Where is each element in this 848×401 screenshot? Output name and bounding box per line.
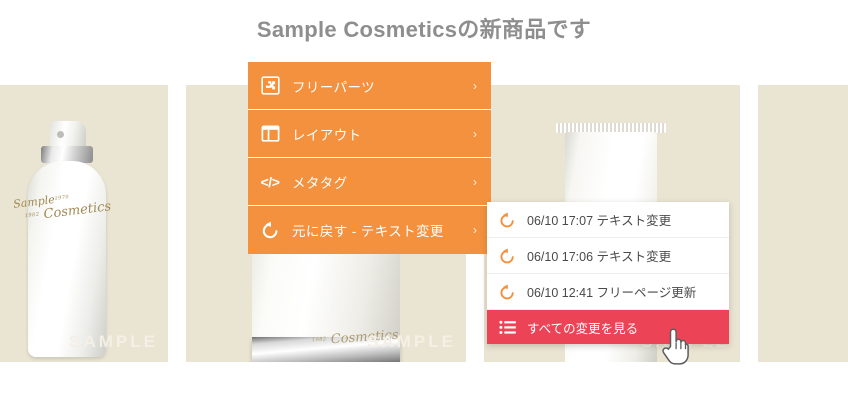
product-panel-1[interactable]: Sample1970 1982 Cosmetics SAMPLE <box>0 85 168 362</box>
chevron-right-icon: › <box>473 127 477 141</box>
history-item-label: 06/10 17:07 テキスト変更 <box>527 210 671 229</box>
chevron-right-icon: › <box>473 175 477 189</box>
chevron-right-icon: › <box>473 223 477 237</box>
menu-item-label: フリーパーツ <box>292 76 375 96</box>
editor-main-menu: フリーパーツ › レイアウト › </> メタタグ › <box>248 62 491 254</box>
history-item-label: 06/10 12:41 フリーページ更新 <box>527 282 696 301</box>
pointing-hand-cursor <box>659 326 693 373</box>
history-item-label: 06/10 17:06 テキスト変更 <box>527 246 671 265</box>
brand-tiny2: 1982 <box>312 336 327 343</box>
page-canvas: Sample Cosmeticsの新商品です Sample1970 1982 C… <box>0 0 848 401</box>
history-item-2[interactable]: 06/10 17:06 テキスト変更 <box>487 238 729 274</box>
menu-item-free-parts[interactable]: フリーパーツ › <box>248 62 491 110</box>
undo-arrow-icon <box>487 283 527 301</box>
menu-item-layout[interactable]: レイアウト › <box>248 110 491 158</box>
spray-nozzle <box>50 121 86 149</box>
history-item-3[interactable]: 06/10 12:41 フリーページ更新 <box>487 274 729 310</box>
page-title: Sample Cosmeticsの新商品です <box>0 12 848 44</box>
brand-tiny1: 1970 <box>54 194 69 202</box>
brand-tiny2: 1982 <box>24 211 39 219</box>
undo-arrow-icon <box>487 247 527 265</box>
layout-grid-icon <box>248 124 292 143</box>
spray-bottle-image <box>28 115 106 357</box>
history-item-1[interactable]: 06/10 17:07 テキスト変更 <box>487 202 729 238</box>
code-brackets-icon: </> <box>248 174 292 190</box>
menu-item-label: レイアウト <box>292 124 362 144</box>
undo-arrow-icon <box>487 211 527 229</box>
puzzle-piece-icon <box>248 76 292 95</box>
chevron-right-icon: › <box>473 79 477 93</box>
list-bullets-icon <box>487 320 527 335</box>
sample-watermark: SAMPLE <box>367 332 456 352</box>
view-all-changes-label: すべての変更を見る <box>527 318 638 337</box>
menu-item-undo[interactable]: 元に戻す - テキスト変更 › <box>248 206 491 254</box>
menu-item-label: 元に戻す - テキスト変更 <box>292 220 444 240</box>
sample-watermark: SAMPLE <box>69 332 158 352</box>
menu-item-label: メタタグ <box>292 172 348 192</box>
product-panel-4[interactable] <box>758 85 848 362</box>
undo-arrow-icon <box>248 220 292 240</box>
undo-history-submenu: 06/10 17:07 テキスト変更 06/10 17:06 テキスト変更 06… <box>487 202 729 344</box>
menu-item-meta-tag[interactable]: </> メタタグ › <box>248 158 491 206</box>
